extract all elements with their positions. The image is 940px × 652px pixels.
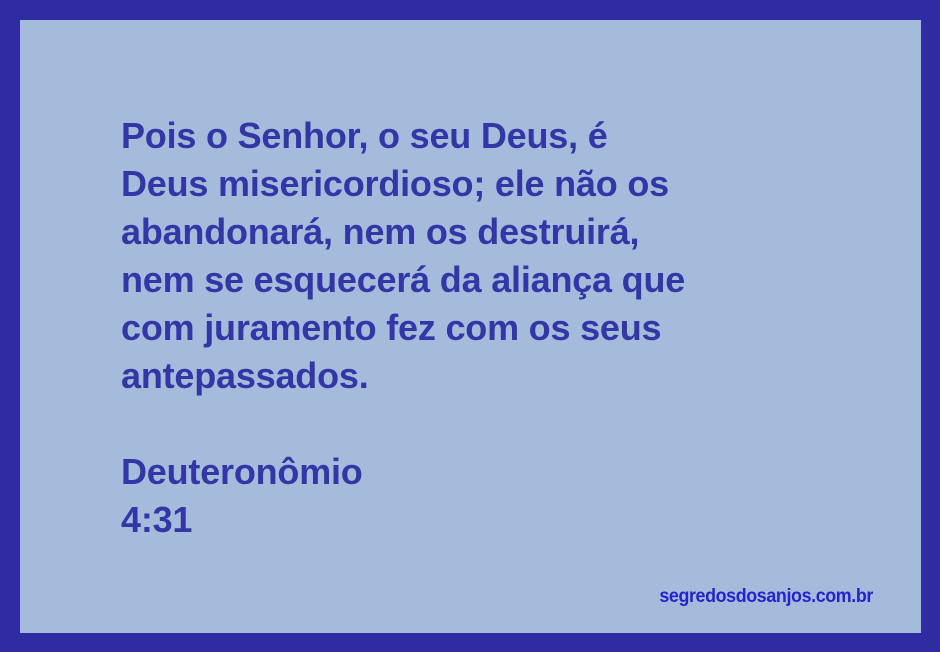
verse-line-4: nem se esquecerá da aliança que: [121, 256, 861, 304]
reference-book: Deuteronômio: [121, 448, 861, 496]
verse-panel: Pois o Senhor, o seu Deus, é Deus miseri…: [20, 20, 921, 633]
verse-line-3: abandonará, nem os destruirá,: [121, 208, 861, 256]
reference-chapter-verse: 4:31: [121, 496, 861, 544]
verse-image-card: Pois o Senhor, o seu Deus, é Deus miseri…: [0, 0, 940, 652]
verse-line-5: com juramento fez com os seus: [121, 304, 861, 352]
verse-text-block: Pois o Senhor, o seu Deus, é Deus miseri…: [121, 112, 861, 544]
verse-line-6: antepassados.: [121, 352, 861, 400]
verse-reference-spacer: [121, 400, 861, 448]
verse-line-2: Deus misericordioso; ele não os: [121, 160, 861, 208]
verse-line-1: Pois o Senhor, o seu Deus, é: [121, 112, 861, 160]
site-credit-label: segredosdosanjos.com.br: [71, 585, 873, 609]
